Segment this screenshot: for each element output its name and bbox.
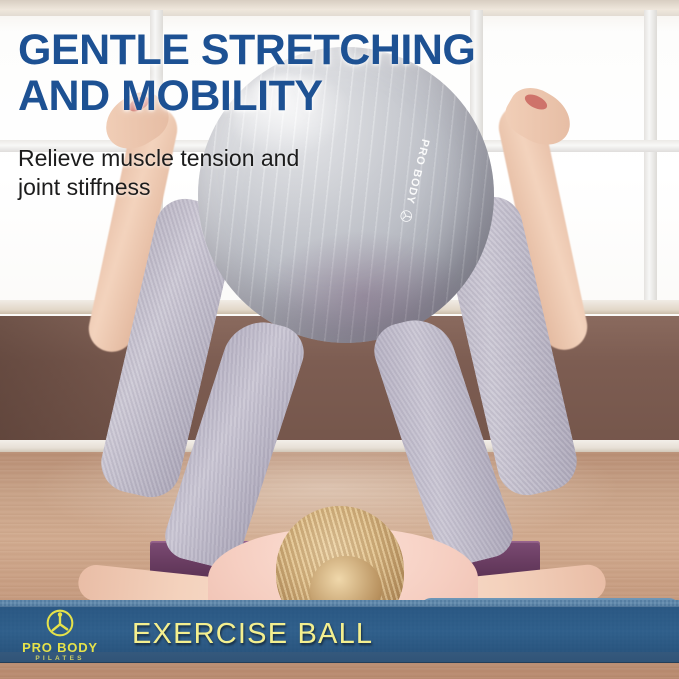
product-name: EXERCISE BALL (132, 618, 373, 651)
window-top-board (0, 0, 679, 16)
brand-logo: PRO BODY PILATES (0, 606, 116, 663)
bottom-banner: PRO BODY PILATES EXERCISE BALL (0, 606, 679, 663)
headline-line-2: AND MOBILITY (18, 73, 618, 119)
page-title: GENTLE STRETCHING AND MOBILITY (18, 27, 618, 119)
headline-line-1: GENTLE STRETCHING (18, 26, 475, 74)
subtitle-line-2: joint stiffness (18, 173, 398, 202)
ball-brand-text: PRO BODY (403, 138, 431, 206)
product-lifestyle-image: PRO BODY GENTLE STRETCHING AND MOBILITY … (0, 0, 679, 679)
brand-tagline: PILATES (35, 656, 84, 663)
subtitle-line-1: Relieve muscle tension and (18, 145, 299, 171)
window-mullion-vertical (644, 10, 657, 310)
subtitle: Relieve muscle tension and joint stiffne… (18, 144, 398, 203)
brand-name: PRO BODY (22, 641, 98, 654)
probody-emblem-icon (43, 606, 77, 640)
